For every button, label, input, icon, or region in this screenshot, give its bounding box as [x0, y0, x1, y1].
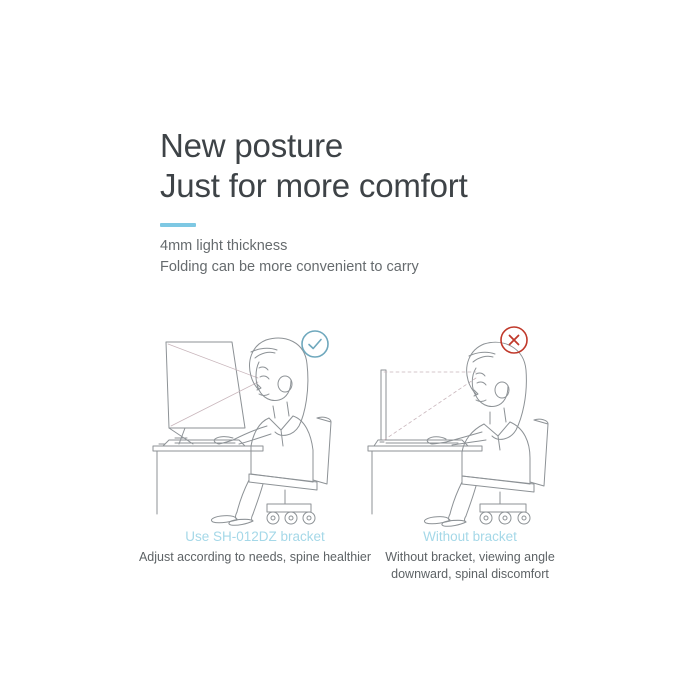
- chair-wheel-3-hub: [307, 516, 311, 520]
- chair-base-bar: [267, 504, 311, 512]
- sight-line-lower: [171, 382, 258, 426]
- eye: [477, 382, 486, 385]
- chair-wheel-1-hub: [484, 516, 488, 520]
- thigh-back: [253, 484, 263, 514]
- caption-sub-without-bracket-line-2: downward, spinal discomfort: [335, 566, 605, 583]
- good-posture-illustration: [135, 322, 375, 532]
- caption-title-without-bracket: Without bracket: [335, 527, 605, 547]
- panel-without-bracket: Without bracket Without bracket, viewing…: [350, 322, 590, 592]
- neck-right: [504, 408, 506, 422]
- cross-circle-icon: [498, 324, 530, 356]
- collar: [484, 422, 510, 436]
- chair-seat: [249, 474, 317, 490]
- eye: [260, 376, 269, 379]
- chair-wheel-2-hub: [289, 516, 293, 520]
- shoe-back: [442, 520, 466, 526]
- bracket-arm-1: [169, 428, 193, 444]
- torso-back-hunched: [510, 422, 530, 484]
- chair-base-bar: [480, 504, 526, 512]
- downward-gaze-line: [384, 378, 476, 440]
- comparison-panels: Use SH-012DZ bracket Adjust according to…: [0, 322, 680, 592]
- chair-wheel-2-hub: [503, 516, 507, 520]
- headline-line-1: New posture: [160, 126, 580, 166]
- desk-surface: [153, 446, 263, 451]
- chair-wheel-2: [285, 512, 297, 524]
- chair-wheel-3: [518, 512, 530, 524]
- shoe-back: [229, 519, 253, 525]
- laptop-screen: [381, 370, 386, 440]
- check-circle-icon: [299, 328, 331, 360]
- shoe-front: [424, 517, 450, 524]
- caption-sub-without-bracket-line-1: Without bracket, viewing angle: [335, 549, 605, 566]
- shirt-placket: [498, 436, 500, 450]
- chair-backrest: [313, 418, 331, 484]
- eyebrow: [259, 367, 268, 370]
- torso-front: [462, 424, 484, 476]
- subtitle-line-2: Folding can be more convenient to carry: [160, 257, 580, 278]
- upper-arm: [446, 432, 482, 442]
- mouth: [259, 394, 269, 396]
- thigh-front: [237, 480, 249, 512]
- ear: [495, 382, 509, 398]
- chair-seat: [462, 476, 534, 492]
- bracket-arm-2: [179, 428, 185, 444]
- chair-wheel-2: [499, 512, 511, 524]
- laptop-screen: [166, 342, 245, 428]
- headline-line-2: Just for more comfort: [160, 166, 580, 206]
- accent-divider-bar: [160, 223, 196, 227]
- hair-strand: [473, 356, 493, 362]
- chair-wheel-1: [480, 512, 492, 524]
- collar: [269, 416, 293, 430]
- sight-line-upper: [168, 344, 258, 378]
- chair-wheel-3-hub: [522, 516, 526, 520]
- chair-wheel-3: [303, 512, 315, 524]
- neck-left: [273, 406, 275, 418]
- hair-strand: [255, 352, 275, 358]
- chair-backrest: [530, 420, 548, 486]
- torso-back: [293, 416, 313, 482]
- subtitle-block: 4mm light thickness Folding can be more …: [160, 236, 580, 278]
- chair-wheel-1-hub: [271, 516, 275, 520]
- chair-wheel-1: [267, 512, 279, 524]
- eyebrow: [476, 373, 485, 376]
- heading-block: New posture Just for more comfort: [160, 126, 580, 227]
- neck-right: [287, 402, 289, 416]
- thigh-front: [450, 482, 462, 514]
- thigh-back: [466, 486, 476, 516]
- shirt-placket: [281, 430, 283, 446]
- arm-lower-contour: [239, 434, 271, 444]
- subtitle-line-1: 4mm light thickness: [160, 236, 580, 257]
- desk-surface: [368, 446, 482, 451]
- product-infographic-page: New posture Just for more comfort 4mm li…: [0, 0, 680, 680]
- ear: [278, 376, 292, 392]
- caption-without-bracket: Without bracket Without bracket, viewing…: [335, 527, 605, 583]
- shoe-front: [211, 516, 237, 523]
- mouth: [476, 400, 486, 402]
- bad-posture-illustration: [350, 322, 590, 532]
